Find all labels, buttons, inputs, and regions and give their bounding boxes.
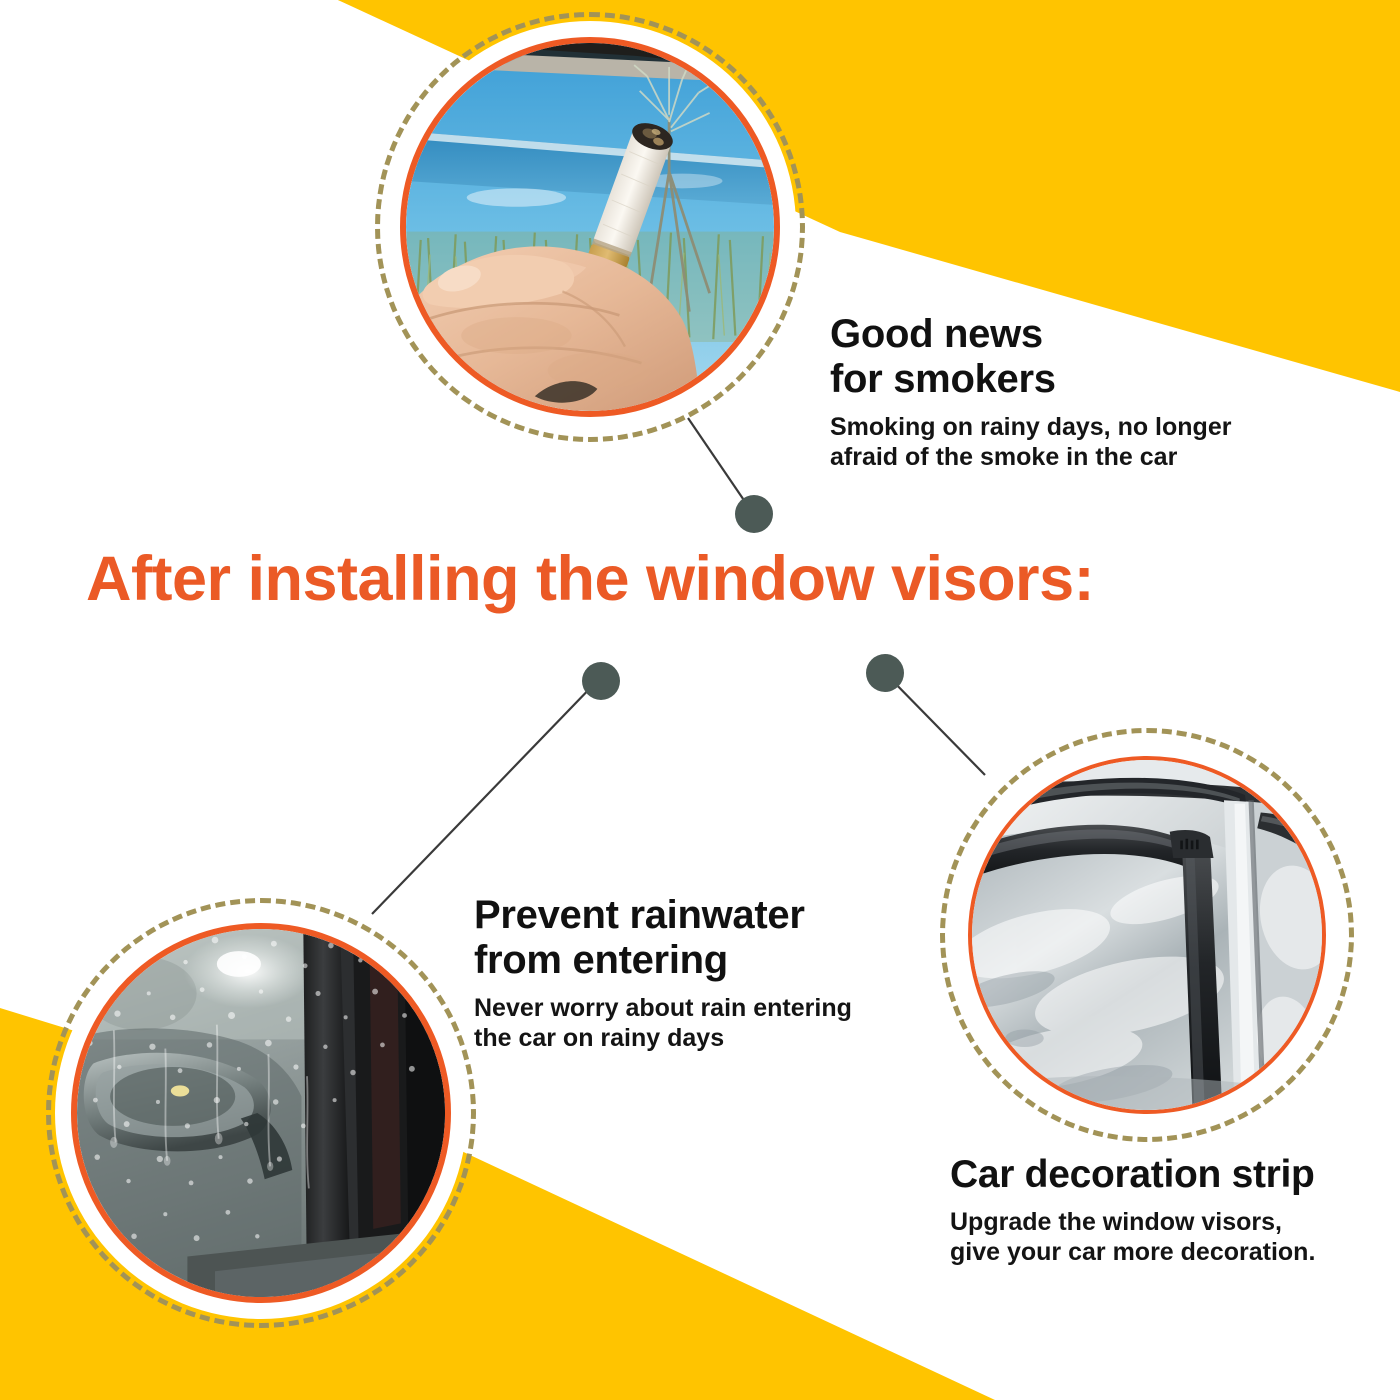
callout-smokers: Good news for smokers Smoking on rainy d… (830, 312, 1260, 472)
photo-circle-decoration (940, 728, 1354, 1142)
photo-disc-decoration (968, 756, 1326, 1114)
callout-smokers-title: Good news for smokers (830, 312, 1260, 402)
connector-line-deco (884, 672, 985, 775)
photo-smokers-image (406, 43, 774, 411)
photo-circle-smokers (375, 12, 805, 442)
photo-decoration-image (972, 760, 1322, 1110)
photo-circle-rain (46, 898, 476, 1328)
photo-rain-image (77, 929, 445, 1297)
callout-decoration-body: Upgrade the window visors, give your car… (950, 1207, 1370, 1267)
callout-smokers-body: Smoking on rainy days, no longer afraid … (830, 412, 1260, 472)
photo-disc-rain (71, 923, 451, 1303)
connector-dot-rain (582, 662, 620, 700)
callout-rain: Prevent rainwater from entering Never wo… (474, 893, 874, 1053)
callout-decoration-title: Car decoration strip (950, 1153, 1370, 1197)
page-title: After installing the window visors: (86, 546, 1316, 612)
connector-dot-deco (866, 654, 904, 692)
photo-disc-smokers (400, 37, 780, 417)
callout-rain-title: Prevent rainwater from entering (474, 893, 874, 983)
callout-rain-body: Never worry about rain entering the car … (474, 993, 874, 1053)
infographic-canvas: After installing the window visors: Good… (0, 0, 1400, 1400)
callout-decoration: Car decoration strip Upgrade the window … (950, 1153, 1370, 1267)
connector-dot-smokers (735, 495, 773, 533)
connector-line-rain (372, 680, 598, 914)
